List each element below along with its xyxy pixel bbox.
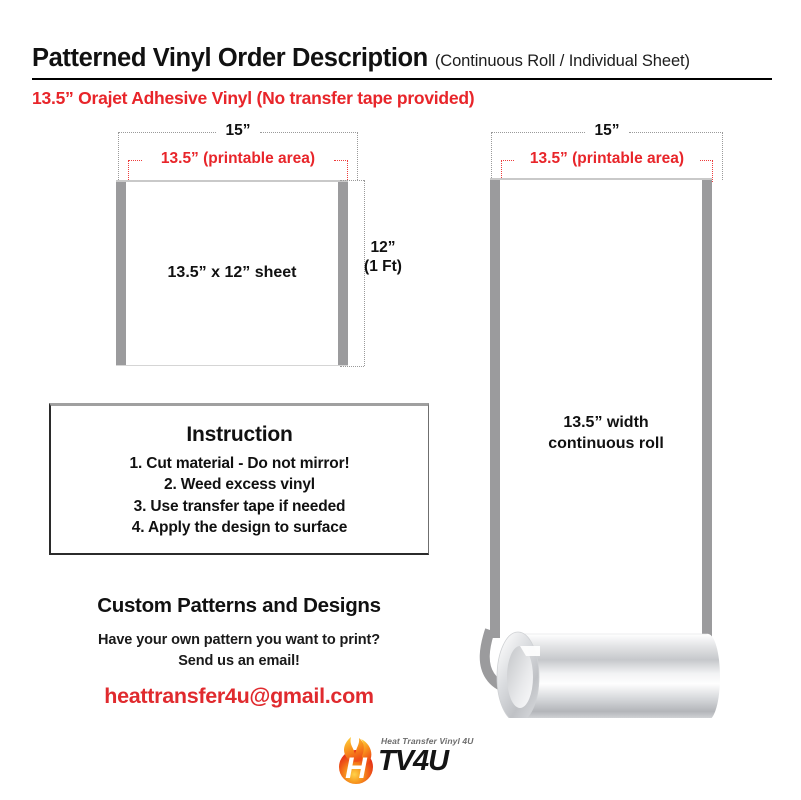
custom-patterns-line-2: Send us an email! xyxy=(29,651,449,672)
instruction-step: 1. Cut material - Do not mirror! xyxy=(51,453,428,474)
flame-icon: H xyxy=(331,732,383,786)
instruction-step-list: 1. Cut material - Do not mirror! 2. Weed… xyxy=(51,453,428,539)
sheet-height-label: 12” (1 Ft) xyxy=(352,239,414,277)
bracket-top-segment-left xyxy=(128,160,142,161)
roll-caption: 13.5” width continuous roll xyxy=(500,413,712,455)
bracket-left-tick xyxy=(491,132,492,180)
sheet-bottom-rule xyxy=(116,365,348,366)
roll-printable-width-label: 13.5” (printable area) xyxy=(514,150,700,168)
sheet-printable-width-bracket: 13.5” (printable area) xyxy=(128,160,348,182)
bracket-right-tick xyxy=(357,132,358,180)
title-divider xyxy=(32,78,772,80)
flame-letter-h: H xyxy=(345,752,368,785)
custom-patterns-line-1: Have your own pattern you want to print? xyxy=(29,630,449,651)
bracket-top-segment-right xyxy=(260,132,358,133)
bracket-bottom-cap xyxy=(340,366,364,367)
vinyl-order-description-page: Patterned Vinyl Order Description (Conti… xyxy=(0,0,801,800)
custom-patterns-section: Custom Patterns and Designs Have your ow… xyxy=(29,594,449,709)
bracket-top-segment-left xyxy=(501,160,514,161)
bracket-top-segment-right xyxy=(629,132,723,133)
sheet-caption: 13.5” x 12” sheet xyxy=(116,264,348,282)
instruction-step: 3. Use transfer tape if needed xyxy=(51,496,428,517)
custom-patterns-body: Have your own pattern you want to print?… xyxy=(29,630,449,671)
instruction-step: 4. Apply the design to surface xyxy=(51,517,428,538)
sheet-outer-width-label: 15” xyxy=(216,122,260,140)
custom-patterns-title: Custom Patterns and Designs xyxy=(29,594,449,618)
bracket-top-segment-left xyxy=(491,132,585,133)
page-header: Patterned Vinyl Order Description (Conti… xyxy=(32,44,772,109)
page-title-note: (Continuous Roll / Individual Sheet) xyxy=(435,52,690,71)
bracket-top-segment-left xyxy=(118,132,216,133)
bracket-right-tick xyxy=(722,132,723,180)
htv4u-logo: H Heat Transfer Vinyl 4U TV4U xyxy=(331,730,481,788)
instruction-step: 2. Weed excess vinyl xyxy=(51,474,428,495)
bracket-top-segment-right xyxy=(700,160,713,161)
bracket-left-tick xyxy=(128,160,129,182)
instruction-box: Instruction 1. Cut material - Do not mir… xyxy=(49,403,429,555)
contact-email[interactable]: heattransfer4u@gmail.com xyxy=(29,684,449,709)
roll-caption-line1: 13.5” width xyxy=(500,413,712,434)
page-title: Patterned Vinyl Order Description xyxy=(32,44,428,73)
instruction-title: Instruction xyxy=(51,423,428,447)
page-subtitle: 13.5” Orajet Adhesive Vinyl (No transfer… xyxy=(32,88,772,109)
sheet-height-label-line2: (1 Ft) xyxy=(352,258,414,277)
bracket-right-tick xyxy=(347,160,348,182)
logo-wordmark: TV4U xyxy=(378,745,448,778)
bracket-left-tick xyxy=(118,132,119,180)
roll-outer-width-label: 15” xyxy=(585,122,629,140)
sheet-printable-width-label: 13.5” (printable area) xyxy=(142,150,334,168)
sheet-height-label-line1: 12” xyxy=(352,239,414,258)
title-line: Patterned Vinyl Order Description (Conti… xyxy=(32,44,772,73)
bracket-top-segment-right xyxy=(334,160,348,161)
roll-caption-line2: continuous roll xyxy=(500,434,712,455)
bracket-top-cap xyxy=(340,180,364,181)
